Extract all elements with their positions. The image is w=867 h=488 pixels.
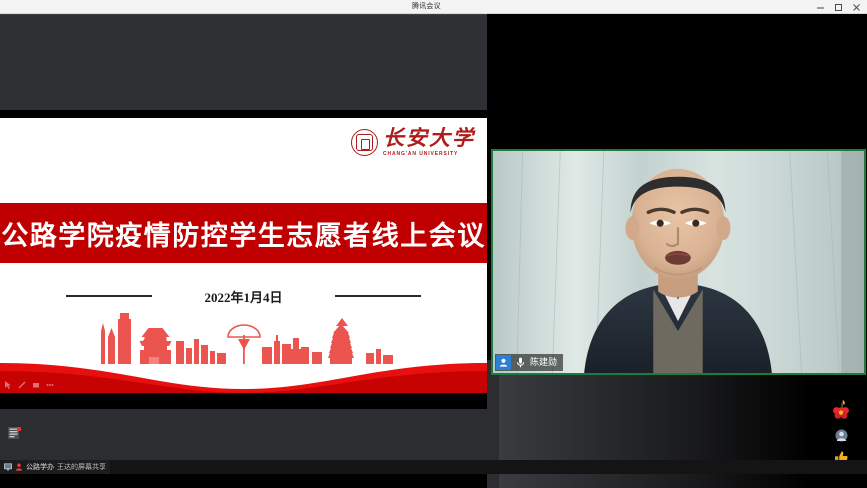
maximize-button[interactable] [829, 0, 847, 14]
annotation-toolbar[interactable] [4, 381, 54, 389]
meeting-stage: 长安大学 CHANG'AN UNIVERSITY 公路学院疫情防控学生志愿者线上… [0, 14, 867, 488]
university-logo: 长安大学 CHANG'AN UNIVERSITY [351, 128, 475, 157]
shared-screen-region[interactable]: 长安大学 CHANG'AN UNIVERSITY 公路学院疫情防控学生志愿者线上… [0, 14, 487, 488]
date-rule-right [335, 295, 421, 297]
microphone-icon[interactable] [512, 357, 528, 368]
slide-title: 公路学院疫情防控学生志愿者线上会议 [1, 214, 486, 253]
window-title: 腾讯会议 [412, 0, 441, 14]
avatar-icon[interactable] [835, 429, 848, 442]
shared-desktop-background [0, 14, 487, 110]
date-rule-left [66, 295, 152, 297]
reaction-avatar[interactable] [835, 429, 848, 443]
bottom-taskbar: 公路学办 王达的屏幕共享 [0, 460, 867, 474]
pen-tool-icon[interactable] [18, 381, 26, 389]
window-titlebar: 腾讯会议 [0, 0, 867, 14]
flower-icon[interactable] [832, 399, 850, 421]
minimize-button[interactable] [811, 0, 829, 14]
city-skyline-graphic [0, 301, 487, 393]
presentation-slide[interactable]: 长安大学 CHANG'AN UNIVERSITY 公路学院疫情防控学生志愿者线上… [0, 118, 487, 393]
org-label: 公路学办 [26, 464, 54, 471]
document-thumbnail-icon[interactable] [8, 427, 22, 439]
active-speaker-tile[interactable]: 陈建勋 [491, 149, 866, 375]
reaction-flower[interactable] [832, 399, 850, 422]
pointer-tool-icon[interactable] [4, 381, 12, 389]
university-name-cn: 长安大学 [383, 128, 475, 149]
share-label: 王达的屏幕共享 [57, 464, 106, 471]
close-button[interactable] [847, 0, 865, 14]
participant-icon [496, 355, 511, 370]
video-region: 陈建勋 [487, 14, 867, 488]
window-controls [811, 0, 865, 14]
university-seal-icon [351, 129, 378, 156]
person-share-icon [15, 463, 23, 471]
monitor-icon [4, 463, 12, 471]
slide-title-band: 公路学院疫情防控学生志愿者线上会议 [0, 203, 487, 263]
eraser-tool-icon[interactable] [32, 381, 40, 389]
speaker-video-frame [493, 151, 864, 375]
screen-share-indicator[interactable]: 公路学办 王达的屏幕共享 [0, 460, 110, 474]
speaker-name: 陈建勋 [528, 358, 557, 367]
more-tools-icon[interactable] [46, 381, 54, 389]
shared-screen-letterbox-top [0, 110, 487, 118]
speaker-name-tag: 陈建勋 [495, 354, 563, 371]
university-name-en: CHANG'AN UNIVERSITY [383, 152, 475, 157]
